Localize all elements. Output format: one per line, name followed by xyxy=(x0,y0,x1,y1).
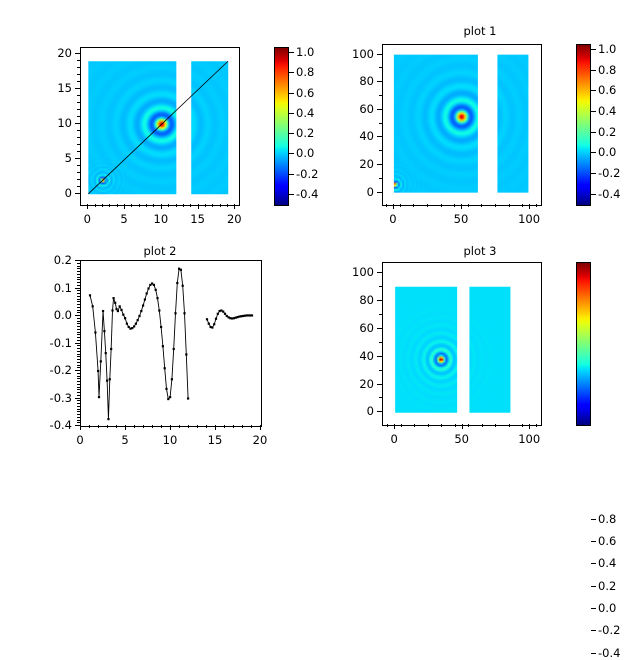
panel-bottom-left: plot 2 05101520-0.4-0.3-0.2-0.10.00.10.2 xyxy=(0,240,320,480)
x-tick-label: 10 xyxy=(154,212,169,226)
x-tick xyxy=(529,424,530,429)
colorbar-tick-label: -0.2 xyxy=(296,167,318,181)
minor-tick xyxy=(77,263,80,264)
minor-tick xyxy=(386,204,387,207)
minor-tick xyxy=(387,424,388,427)
y-tick-label: 0.0 xyxy=(32,308,72,322)
data-point xyxy=(185,353,187,355)
x-tick-label: 100 xyxy=(518,432,540,446)
minor-tick xyxy=(77,348,80,349)
minor-tick xyxy=(77,409,80,410)
data-point xyxy=(107,418,109,420)
x-tick xyxy=(198,204,199,209)
data-point xyxy=(171,378,173,380)
minor-tick xyxy=(379,286,382,287)
colorbar-tick xyxy=(289,72,294,73)
colorbar-tick-label: -0.2 xyxy=(598,166,620,180)
minor-tick xyxy=(77,271,80,272)
x-tick-label: 10 xyxy=(163,433,178,447)
data-point xyxy=(215,318,217,320)
minor-tick xyxy=(77,301,80,302)
minor-tick xyxy=(98,425,99,428)
x-tick-label: 0 xyxy=(76,433,83,447)
colorbar-tick-label: 0.0 xyxy=(598,145,616,159)
x-tick xyxy=(461,204,462,209)
minor-tick xyxy=(183,204,184,207)
minor-tick xyxy=(220,204,221,207)
minor-tick xyxy=(379,397,382,398)
minor-tick xyxy=(509,424,510,427)
colorbar-tick xyxy=(591,608,596,609)
minor-tick xyxy=(77,326,80,327)
colorbar-tick xyxy=(591,132,596,133)
y-tick-label: 0.1 xyxy=(32,281,72,295)
minor-tick xyxy=(379,314,382,315)
minor-tick xyxy=(77,381,80,382)
data-point xyxy=(140,310,142,312)
colorbar-tick xyxy=(591,519,596,520)
y-tick xyxy=(377,328,382,329)
colorbar-tick xyxy=(289,174,294,175)
minor-tick xyxy=(522,424,523,427)
data-point xyxy=(137,319,139,321)
panel-top-left: 0510152005101520 -0.4-0.20.00.20.40.60.8… xyxy=(0,0,320,240)
minor-tick xyxy=(251,425,252,428)
colorbar-tick xyxy=(591,541,596,542)
minor-tick xyxy=(89,425,90,428)
data-point xyxy=(211,326,213,328)
data-point xyxy=(162,345,164,347)
y-tick-label: 40 xyxy=(334,349,374,363)
x-tick-label: 15 xyxy=(208,433,223,447)
y-tick-label: 0 xyxy=(32,186,72,200)
figure-canvas: 0510152005101520 -0.4-0.20.00.20.40.60.8… xyxy=(0,0,640,480)
y-tick xyxy=(75,315,80,316)
minor-tick xyxy=(77,307,80,308)
colorbar-tick-label: 0.8 xyxy=(598,512,616,526)
minor-tick xyxy=(77,312,80,313)
minor-tick xyxy=(77,345,80,346)
colorbar-tick xyxy=(289,194,294,195)
minor-tick xyxy=(77,384,80,385)
y-tick xyxy=(377,81,382,82)
minor-tick xyxy=(161,425,162,428)
minor-tick xyxy=(77,340,80,341)
x-tick xyxy=(87,204,88,209)
y-tick xyxy=(75,158,80,159)
minor-tick xyxy=(77,274,80,275)
colorbar-tick xyxy=(289,113,294,114)
minor-tick xyxy=(77,365,80,366)
y-tick xyxy=(75,260,80,261)
minor-tick xyxy=(95,204,96,207)
colorbar-tick-label: 0.0 xyxy=(296,146,314,160)
y-tick xyxy=(377,356,382,357)
data-point xyxy=(180,269,182,271)
data-point xyxy=(98,396,100,398)
minor-tick xyxy=(139,204,140,207)
y-tick-label: -0.2 xyxy=(32,363,72,377)
y-tick-label: 80 xyxy=(334,293,374,307)
minor-tick xyxy=(77,130,80,131)
data-point xyxy=(251,314,253,316)
y-tick-label: 0.2 xyxy=(32,253,72,267)
data-point xyxy=(120,309,122,311)
colorbar-tick-label: 0.6 xyxy=(296,86,314,100)
colorbar-tick-label: -0.2 xyxy=(598,623,620,637)
minor-tick xyxy=(77,310,80,311)
panel-top-right-axes xyxy=(382,44,542,206)
colorbar-tick xyxy=(591,586,596,587)
minor-tick xyxy=(77,334,80,335)
y-tick-label: 20 xyxy=(334,377,374,391)
data-point xyxy=(144,298,146,300)
minor-tick xyxy=(455,424,456,427)
panel-top-left-colorbar xyxy=(274,47,289,206)
minor-tick xyxy=(379,342,382,343)
minor-tick xyxy=(77,95,80,96)
minor-tick xyxy=(242,425,243,428)
y-tick xyxy=(377,164,382,165)
colorbar-tick xyxy=(591,173,596,174)
colorbar-tick xyxy=(289,93,294,94)
minor-tick xyxy=(454,204,455,207)
y-tick-label: 0 xyxy=(334,404,374,418)
minor-tick xyxy=(77,172,80,173)
data-point xyxy=(153,284,155,286)
minor-tick xyxy=(379,178,382,179)
minor-tick xyxy=(77,266,80,267)
y-tick xyxy=(377,300,382,301)
data-point xyxy=(156,297,158,299)
data-point xyxy=(103,330,105,332)
minor-tick xyxy=(77,268,80,269)
y-tick-label: -0.1 xyxy=(32,336,72,350)
heatmap-image-0 xyxy=(395,287,457,413)
data-point xyxy=(114,302,116,304)
data-point xyxy=(89,294,91,296)
minor-tick xyxy=(77,81,80,82)
y-tick xyxy=(75,288,80,289)
minor-tick xyxy=(400,204,401,207)
data-point xyxy=(174,312,176,314)
minor-tick xyxy=(109,204,110,207)
minor-tick xyxy=(77,186,80,187)
colorbar-tick xyxy=(591,194,596,195)
minor-tick xyxy=(77,165,80,166)
data-point xyxy=(173,348,175,350)
x-tick xyxy=(125,425,126,430)
minor-tick xyxy=(77,359,80,360)
minor-tick xyxy=(77,74,80,75)
y-tick-label: -0.3 xyxy=(32,391,72,405)
colorbar-tick-label: 0.2 xyxy=(598,579,616,593)
minor-tick xyxy=(227,204,228,207)
y-tick xyxy=(75,425,80,426)
minor-tick xyxy=(77,406,80,407)
y-tick xyxy=(75,193,80,194)
minor-tick xyxy=(414,424,415,427)
minor-tick xyxy=(77,285,80,286)
data-point xyxy=(126,323,128,325)
minor-tick xyxy=(212,204,213,207)
minor-tick xyxy=(146,204,147,207)
x-tick-label: 50 xyxy=(454,212,469,226)
x-tick xyxy=(124,204,125,209)
minor-tick xyxy=(481,204,482,207)
y-tick xyxy=(377,136,382,137)
panel-top-right-title: plot 1 xyxy=(320,24,640,38)
minor-tick xyxy=(441,204,442,207)
colorbar-tick xyxy=(591,70,596,71)
heatmap-image-1 xyxy=(497,55,528,193)
minor-tick xyxy=(77,411,80,412)
colorbar-tick-label: 0.6 xyxy=(598,83,616,97)
minor-tick xyxy=(224,425,225,428)
minor-tick xyxy=(77,332,80,333)
y-tick xyxy=(75,53,80,54)
minor-tick xyxy=(206,425,207,428)
data-point xyxy=(112,297,114,299)
minor-tick xyxy=(77,367,80,368)
data-point xyxy=(133,325,135,327)
data-point xyxy=(119,305,121,307)
y-tick xyxy=(377,384,382,385)
minor-tick xyxy=(102,204,103,207)
y-tick-label: 80 xyxy=(334,74,374,88)
data-point xyxy=(124,317,126,319)
data-point xyxy=(176,282,178,284)
colorbar-tick-label: 0.4 xyxy=(598,556,616,570)
data-point xyxy=(217,313,219,315)
minor-tick xyxy=(77,420,80,421)
minor-tick xyxy=(509,204,510,207)
x-tick xyxy=(393,204,394,209)
data-point xyxy=(213,323,215,325)
minor-tick xyxy=(482,424,483,427)
colorbar-tick xyxy=(289,52,294,53)
minor-tick xyxy=(77,323,80,324)
y-tick-label: 20 xyxy=(32,46,72,60)
minor-tick xyxy=(428,424,429,427)
data-point xyxy=(155,289,157,291)
minor-tick xyxy=(190,204,191,207)
colorbar-tick xyxy=(591,152,596,153)
data-point xyxy=(165,388,167,390)
minor-tick xyxy=(116,425,117,428)
minor-tick xyxy=(77,318,80,319)
panel-bottom-right-title: plot 3 xyxy=(320,244,640,258)
minor-tick xyxy=(522,204,523,207)
minor-tick xyxy=(188,425,189,428)
minor-tick xyxy=(77,296,80,297)
y-tick xyxy=(75,88,80,89)
minor-tick xyxy=(77,144,80,145)
minor-tick xyxy=(77,290,80,291)
data-point xyxy=(169,396,171,398)
minor-tick xyxy=(77,321,80,322)
minor-tick xyxy=(143,425,144,428)
colorbar-tick-label: 0.4 xyxy=(296,106,314,120)
y-tick-label: 60 xyxy=(334,321,374,335)
colorbar-tick xyxy=(591,111,596,112)
minor-tick xyxy=(77,387,80,388)
minor-tick xyxy=(468,204,469,207)
data-point xyxy=(138,315,140,317)
minor-tick xyxy=(379,370,382,371)
colorbar-tick-label: 1.0 xyxy=(598,42,616,56)
minor-tick xyxy=(179,425,180,428)
y-tick-label: 60 xyxy=(334,102,374,116)
y-tick xyxy=(377,192,382,193)
minor-tick xyxy=(379,123,382,124)
x-tick xyxy=(462,424,463,429)
minor-tick xyxy=(77,376,80,377)
minor-tick xyxy=(107,425,108,428)
y-tick-label: 100 xyxy=(334,265,374,279)
panel-top-right: plot 1 050100020406080100 -0.4-0.20.00.2… xyxy=(320,0,640,240)
colorbar-tick xyxy=(591,49,596,50)
y-tick-label: 15 xyxy=(32,81,72,95)
colorbar-tick-label: 0.8 xyxy=(296,65,314,79)
minor-tick xyxy=(77,392,80,393)
y-tick xyxy=(75,370,80,371)
data-point xyxy=(164,367,166,369)
y-tick xyxy=(377,272,382,273)
data-point xyxy=(147,287,149,289)
y-tick xyxy=(75,343,80,344)
minor-tick xyxy=(205,204,206,207)
minor-tick xyxy=(77,277,80,278)
colorbar-tick xyxy=(289,133,294,134)
data-point xyxy=(187,397,189,399)
colorbar-tick-label: 0.0 xyxy=(598,601,616,615)
data-point xyxy=(182,285,184,287)
minor-tick xyxy=(77,151,80,152)
y-tick-label: 0 xyxy=(334,185,374,199)
y-tick xyxy=(75,398,80,399)
minor-tick xyxy=(197,425,198,428)
x-tick-label: 0 xyxy=(390,432,397,446)
panel-top-left-axes xyxy=(80,47,240,206)
y-tick xyxy=(75,123,80,124)
x-tick-label: 5 xyxy=(121,433,128,447)
minor-tick xyxy=(77,102,80,103)
colorbar-tick xyxy=(591,630,596,631)
data-point xyxy=(92,305,94,307)
minor-tick xyxy=(77,60,80,61)
y-tick-label: -0.4 xyxy=(32,418,72,432)
minor-tick xyxy=(77,293,80,294)
minor-tick xyxy=(401,424,402,427)
x-tick-label: 15 xyxy=(190,212,205,226)
x-tick xyxy=(234,204,235,209)
minor-tick xyxy=(77,337,80,338)
line-series-0 xyxy=(90,269,188,419)
minor-tick xyxy=(413,204,414,207)
minor-tick xyxy=(176,204,177,207)
minor-tick xyxy=(77,179,80,180)
x-tick-label: 20 xyxy=(253,433,268,447)
data-point xyxy=(122,314,124,316)
colorbar-tick-label: 0.2 xyxy=(296,126,314,140)
x-tick-label: 20 xyxy=(227,212,242,226)
minor-tick xyxy=(536,204,537,207)
data-point xyxy=(206,318,208,320)
minor-tick xyxy=(536,424,537,427)
data-point xyxy=(222,311,224,313)
data-point xyxy=(146,292,148,294)
colorbar-tick-label: -0.4 xyxy=(296,187,318,201)
data-point xyxy=(158,309,160,311)
minor-tick xyxy=(77,354,80,355)
minor-tick xyxy=(77,299,80,300)
data-point xyxy=(117,310,119,312)
x-tick-label: 5 xyxy=(120,212,127,226)
x-tick xyxy=(260,425,261,430)
heatmap-image-0 xyxy=(394,55,478,193)
y-tick-label: 40 xyxy=(334,129,374,143)
colorbar-tick-label: -0.4 xyxy=(598,646,620,660)
colorbar-tick xyxy=(289,153,294,154)
y-tick xyxy=(377,109,382,110)
minor-tick xyxy=(77,414,80,415)
minor-tick xyxy=(131,204,132,207)
data-point xyxy=(97,370,99,372)
minor-tick xyxy=(77,378,80,379)
data-point xyxy=(100,360,102,362)
minor-tick xyxy=(77,417,80,418)
y-tick-label: 10 xyxy=(32,116,72,130)
minor-tick xyxy=(153,204,154,207)
minor-tick xyxy=(77,304,80,305)
y-tick-label: 100 xyxy=(334,47,374,61)
data-point xyxy=(109,378,111,380)
data-point xyxy=(102,310,104,312)
minor-tick xyxy=(427,204,428,207)
colorbar-tick-label: 0.2 xyxy=(598,125,616,139)
minor-tick xyxy=(77,400,80,401)
x-tick xyxy=(161,204,162,209)
panel-bottom-right: plot 3 050100020406080100 -0.4-0.20.00.2… xyxy=(320,240,640,480)
minor-tick xyxy=(77,356,80,357)
minor-tick xyxy=(77,362,80,363)
x-tick-label: 0 xyxy=(84,212,91,226)
data-point xyxy=(224,313,226,315)
minor-tick xyxy=(77,116,80,117)
data-point xyxy=(135,323,137,325)
minor-tick xyxy=(495,424,496,427)
data-point xyxy=(111,309,113,311)
data-point xyxy=(160,326,162,328)
minor-tick xyxy=(77,373,80,374)
x-tick-label: 0 xyxy=(389,212,396,226)
x-tick xyxy=(170,425,171,430)
panel-bottom-left-axes xyxy=(80,260,262,427)
panel-top-right-colorbar xyxy=(576,44,591,206)
minor-tick xyxy=(77,109,80,110)
minor-tick xyxy=(77,389,80,390)
colorbar-tick xyxy=(591,653,596,654)
heatmap-image-1 xyxy=(191,61,228,194)
data-point xyxy=(167,398,169,400)
data-point xyxy=(208,323,210,325)
minor-tick xyxy=(379,150,382,151)
minor-tick xyxy=(152,425,153,428)
minor-tick xyxy=(468,424,469,427)
colorbar-tick xyxy=(591,563,596,564)
x-tick xyxy=(80,425,81,430)
